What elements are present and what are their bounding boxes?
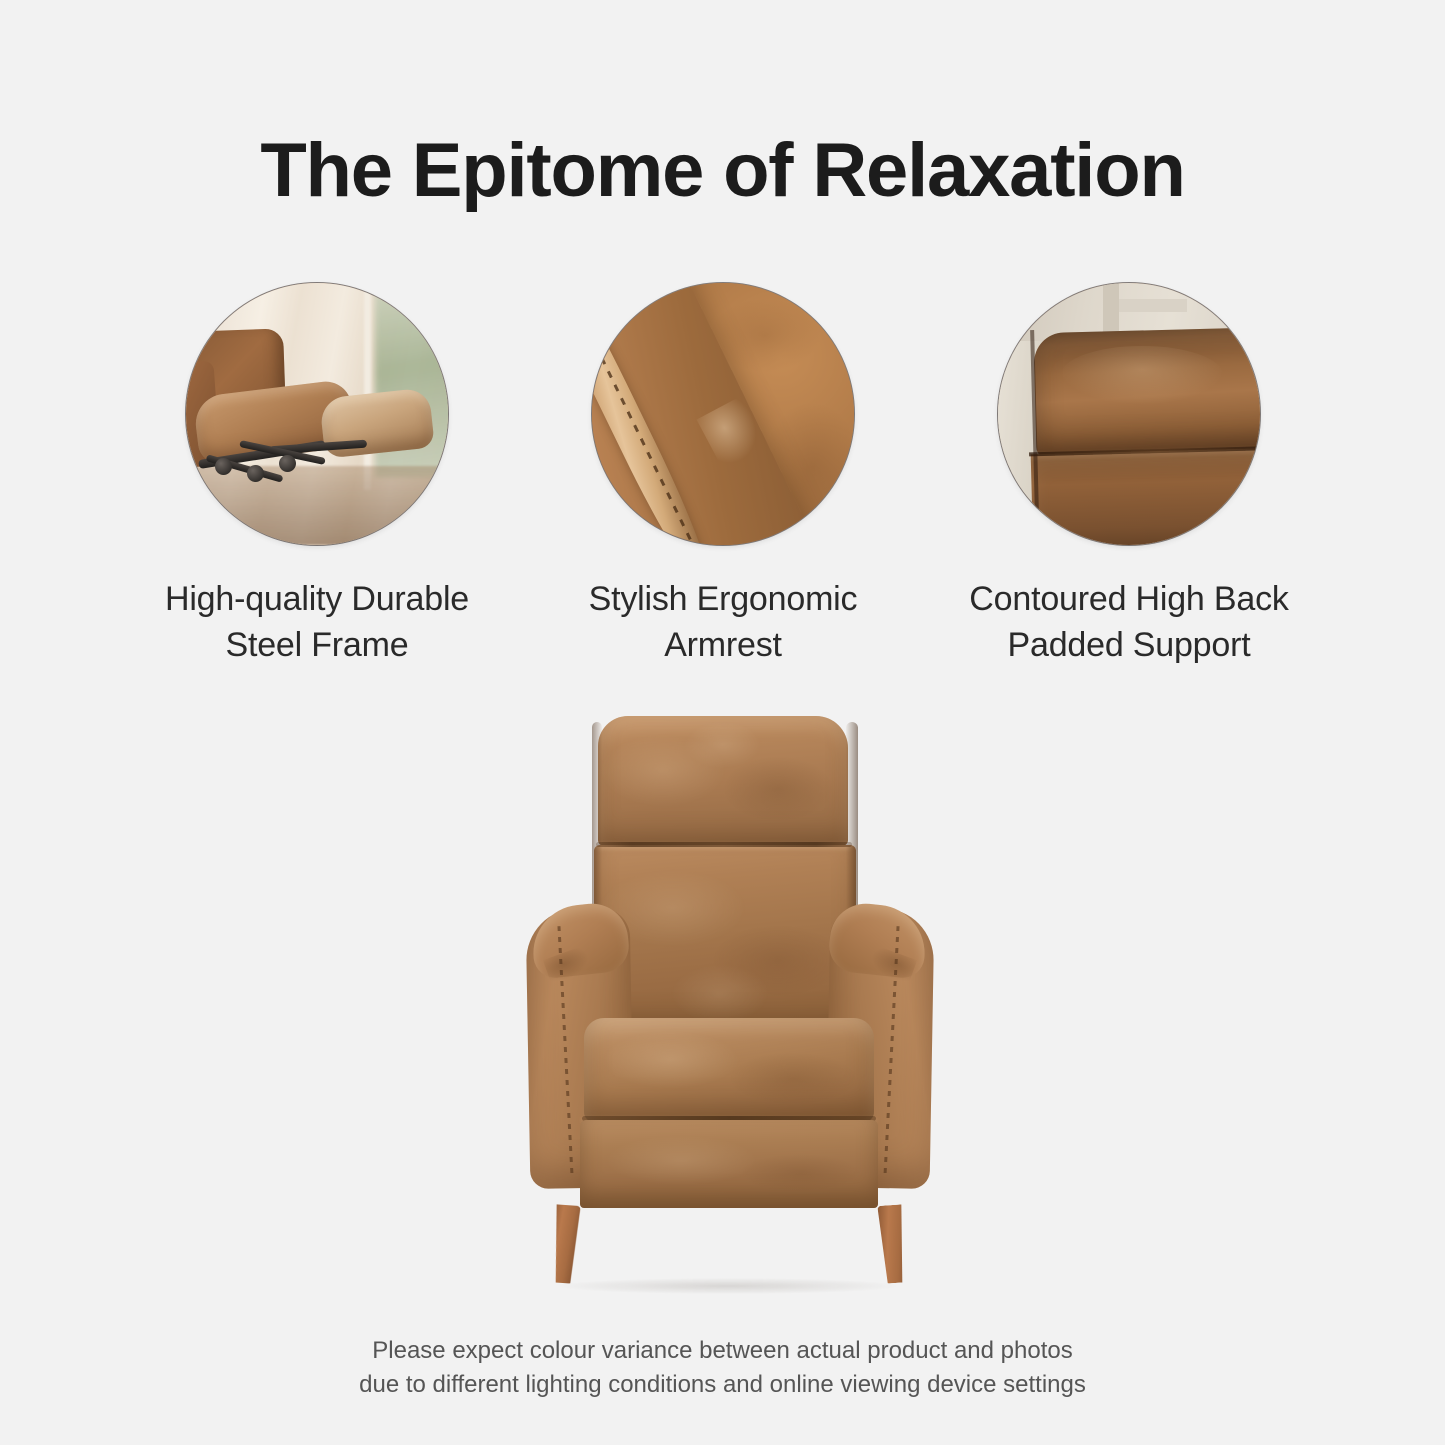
seat-cushion [584,1018,874,1122]
feature-thumbnail-high-back [998,283,1260,545]
feature-caption-line-2: Steel Frame [147,622,487,668]
infographic-canvas: The Epitome of Relaxation [0,0,1445,1445]
feature-caption-armrest: Stylish Ergonomic Armrest [553,576,893,668]
wooden-leg-left [547,1204,580,1284]
feature-high-back-support: Contoured High Back Padded Support [959,283,1299,668]
feature-caption-line-2: Armrest [553,622,893,668]
wooden-leg-right [877,1204,910,1284]
feature-caption-high-back: Contoured High Back Padded Support [959,576,1299,668]
feature-caption-steel-frame: High-quality Durable Steel Frame [147,576,487,668]
disclaimer-line-1: Please expect colour variance between ac… [0,1334,1445,1368]
feature-caption-line-2: Padded Support [959,622,1299,668]
steel-frame-mechanism [194,435,383,503]
feature-durable-steel-frame: High-quality Durable Steel Frame [147,283,487,668]
feature-caption-line-1: Stylish Ergonomic [553,576,893,622]
product-image-recliner-chair [498,700,958,1320]
feature-row: High-quality Durable Steel Frame Stylish… [0,283,1445,703]
feature-caption-line-1: Contoured High Back [959,576,1299,622]
disclaimer-text: Please expect colour variance between ac… [0,1334,1445,1402]
feature-ergonomic-armrest: Stylish Ergonomic Armrest [553,283,893,668]
feature-thumbnail-armrest [592,283,854,545]
page-title: The Epitome of Relaxation [0,128,1445,214]
disclaimer-line-2: due to different lighting conditions and… [0,1368,1445,1402]
feature-thumbnail-steel-frame [186,283,448,545]
feature-caption-line-1: High-quality Durable [147,576,487,622]
hero-product-area [0,700,1445,1330]
seat-base [580,1120,878,1208]
